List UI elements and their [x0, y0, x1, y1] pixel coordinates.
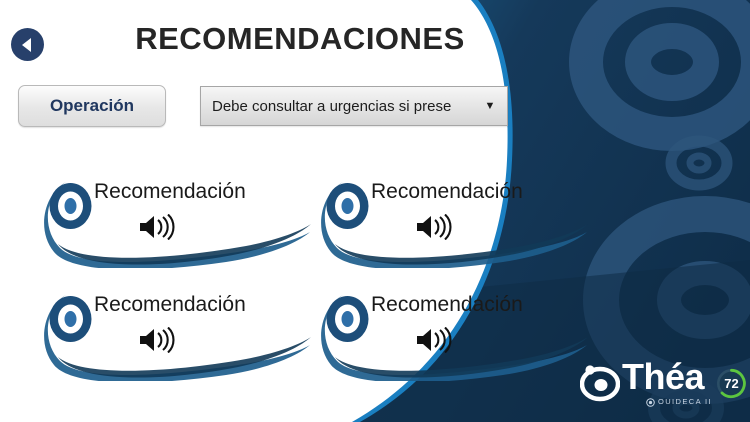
operacion-button[interactable]: Operación: [18, 85, 166, 127]
target-eye-icon: [48, 182, 93, 230]
recommendation-label: Recomendación: [94, 180, 246, 204]
status-badge: 72: [716, 368, 747, 399]
thea-eye-icon: [580, 363, 620, 403]
recommendation-item[interactable]: Recomendación: [315, 285, 590, 381]
recommendation-item[interactable]: Recomendación: [38, 172, 313, 268]
target-eye-icon: [48, 295, 93, 343]
operacion-button-label: Operación: [50, 96, 134, 116]
recommendation-grid: Recomendación Recomendación: [0, 168, 620, 398]
speaker-volume-icon: [415, 327, 457, 353]
recommendation-item[interactable]: Recomendación: [315, 172, 590, 268]
thea-wordmark: Théa: [622, 356, 704, 398]
ouideca-mark-icon: [646, 398, 655, 407]
target-eye-icon: [325, 182, 370, 230]
recommendation-label: Recomendación: [94, 293, 246, 317]
page-title: RECOMENDACIONES: [0, 21, 600, 57]
badge-value: 72: [716, 368, 747, 399]
recommendation-select-value: Debe consultar a urgencias si prese: [201, 98, 473, 115]
target-eye-icon: [325, 295, 370, 343]
speaker-volume-icon: [138, 327, 180, 353]
recommendations-screen: RECOMENDACIONES Operación Debe consultar…: [0, 0, 750, 422]
recommendation-label: Recomendación: [371, 293, 523, 317]
speaker-volume-icon: [415, 214, 457, 240]
thea-subtitle: OUIDECA II: [658, 397, 712, 406]
recommendation-label: Recomendación: [371, 180, 523, 204]
recommendation-item[interactable]: Recomendación: [38, 285, 313, 381]
speaker-volume-icon: [138, 214, 180, 240]
chevron-down-icon: ▼: [473, 100, 507, 112]
recommendation-select[interactable]: Debe consultar a urgencias si prese ▼: [200, 86, 508, 126]
